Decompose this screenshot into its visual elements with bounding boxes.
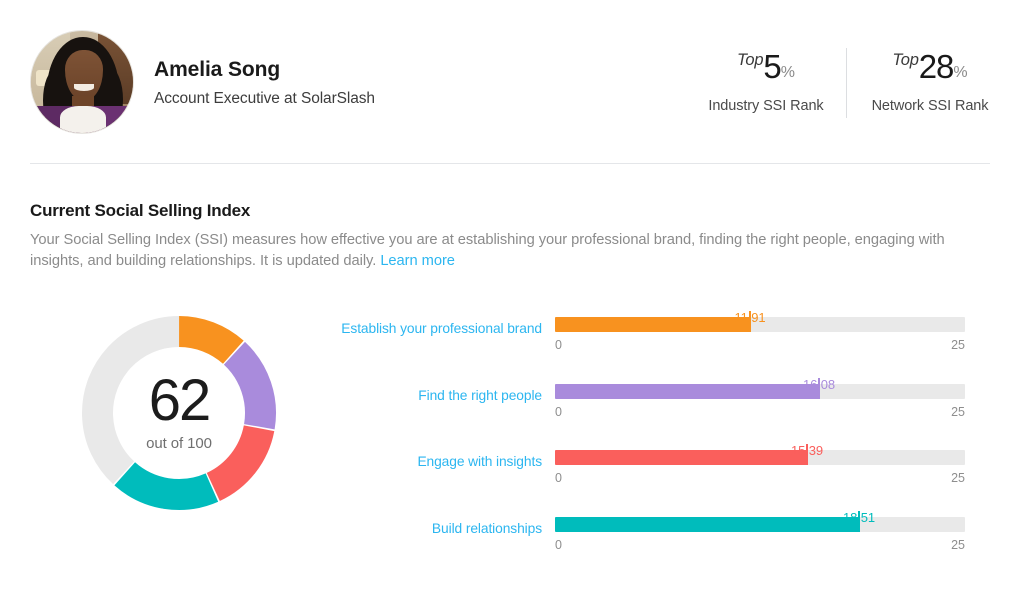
bar-label[interactable]: Establish your professional brand xyxy=(341,321,542,336)
bar-fill xyxy=(555,450,807,465)
bar-value: 18.51 xyxy=(843,510,875,525)
bar-label[interactable]: Build relationships xyxy=(432,521,542,536)
bar-label[interactable]: Find the right people xyxy=(418,388,542,403)
bar-row: Engage with insights15.39025 xyxy=(0,436,1024,502)
bar-track: 11.91 xyxy=(555,317,965,332)
bar-row: Find the right people16.08025 xyxy=(0,370,1024,436)
bar-fill xyxy=(555,317,750,332)
bar-value: 15.39 xyxy=(791,443,823,458)
bar-track: 15.39 xyxy=(555,450,965,465)
axis-max-label: 25 xyxy=(951,471,965,485)
axis-min-label: 0 xyxy=(555,405,562,419)
axis-max-label: 25 xyxy=(951,338,965,352)
bar-fill xyxy=(555,384,819,399)
ssi-bar-chart: Establish your professional brand11.9102… xyxy=(0,0,1024,600)
bar-value: 11.91 xyxy=(734,310,765,325)
bar-value: 16.08 xyxy=(803,377,835,392)
axis-max-label: 25 xyxy=(951,405,965,419)
bar-label[interactable]: Engage with insights xyxy=(417,454,542,469)
axis-min-label: 0 xyxy=(555,471,562,485)
bar-row: Establish your professional brand11.9102… xyxy=(0,303,1024,369)
axis-min-label: 0 xyxy=(555,338,562,352)
axis-max-label: 25 xyxy=(951,538,965,552)
bar-row: Build relationships18.51025 xyxy=(0,503,1024,569)
bar-track: 18.51 xyxy=(555,517,965,532)
bar-fill xyxy=(555,517,859,532)
bar-track: 16.08 xyxy=(555,384,965,399)
axis-min-label: 0 xyxy=(555,538,562,552)
ssi-dashboard: Amelia Song Account Executive at SolarSl… xyxy=(0,0,1024,600)
